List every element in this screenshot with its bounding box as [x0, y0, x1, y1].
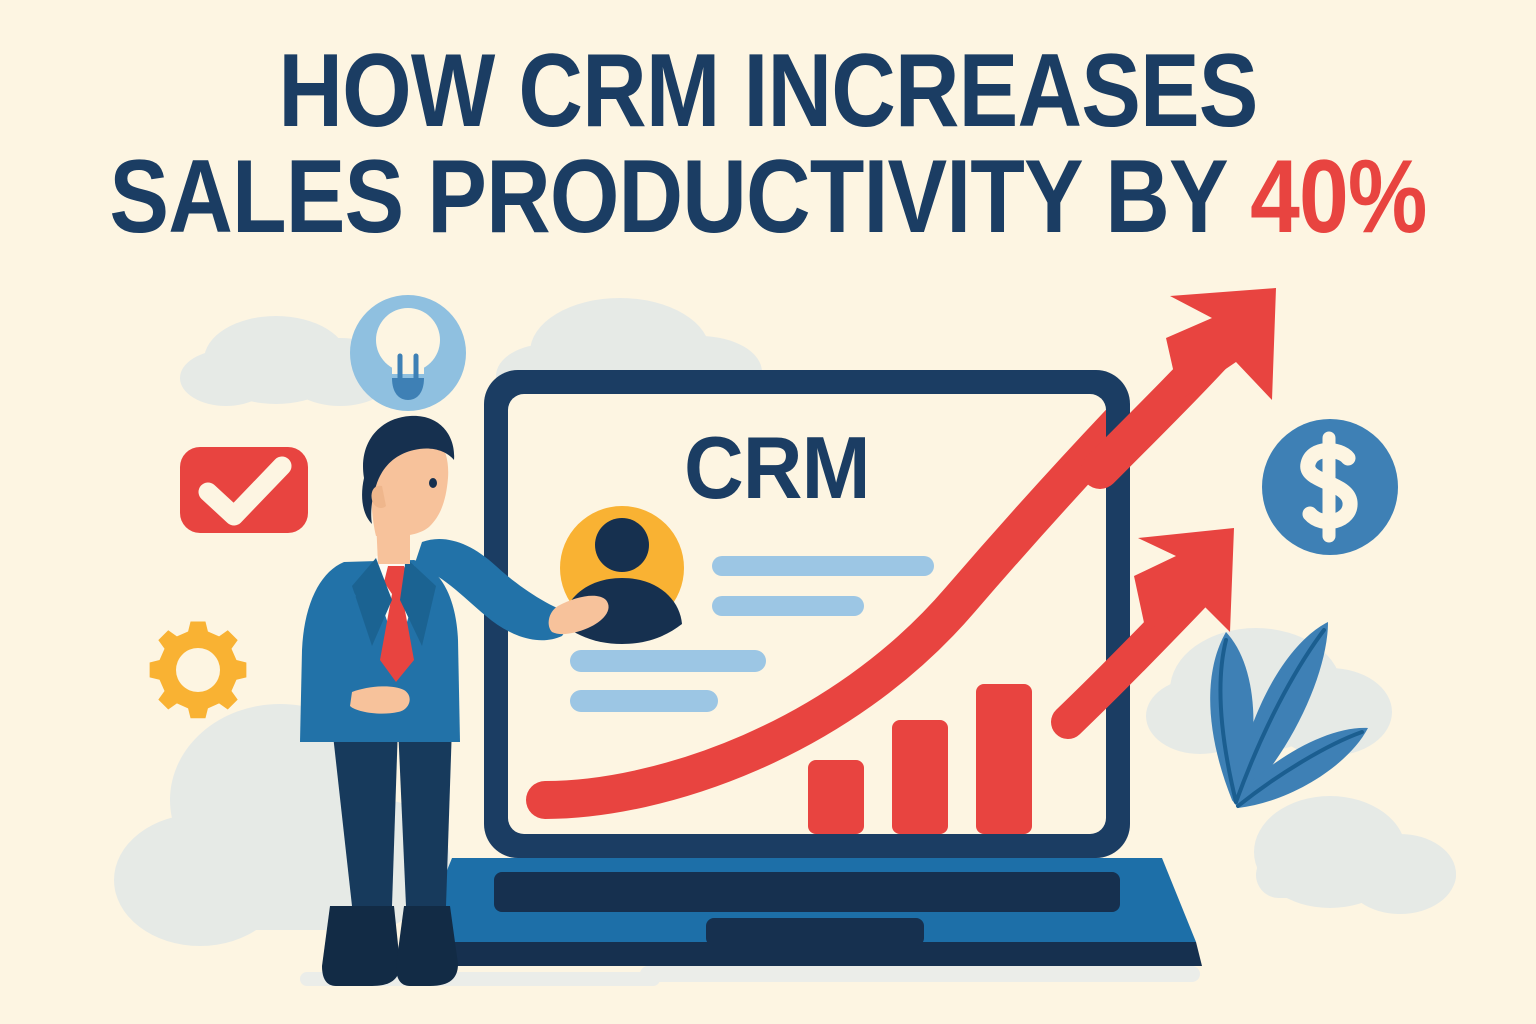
- lightbulb-neck: [392, 352, 424, 374]
- laptop-keyboard[interactable]: [494, 872, 1120, 912]
- content-line-3: [570, 650, 766, 672]
- screen-title-crm: CRM: [684, 424, 870, 512]
- shoe-front: [396, 906, 458, 986]
- hand-on-hip: [350, 686, 410, 713]
- leg-front: [398, 726, 452, 906]
- eye: [429, 478, 437, 488]
- content-line-1: [712, 556, 934, 576]
- dollar-circle-icon[interactable]: [1262, 419, 1398, 555]
- shoe-back: [322, 906, 400, 986]
- chart-bar-1: [808, 760, 864, 834]
- lightbulb-icon[interactable]: [350, 295, 466, 411]
- chart-bar-2: [892, 720, 948, 834]
- gear-hole: [176, 648, 220, 692]
- content-line-2: [712, 596, 864, 616]
- content-line-4: [570, 690, 718, 712]
- chart-bar-3: [976, 684, 1032, 834]
- laptop-trackpad[interactable]: [706, 918, 924, 946]
- growth-arrow-large: [1100, 288, 1276, 470]
- avatar-head: [595, 518, 649, 572]
- leg-back: [332, 726, 398, 906]
- infographic-canvas: HOW CRM INCREASES SALES PRODUCTIVITY BY …: [0, 0, 1536, 1024]
- plant-leaves: [1210, 622, 1368, 808]
- arrow-large-head: [1166, 288, 1276, 400]
- check-badge-icon[interactable]: [180, 447, 308, 533]
- gear-icon[interactable]: [150, 622, 247, 719]
